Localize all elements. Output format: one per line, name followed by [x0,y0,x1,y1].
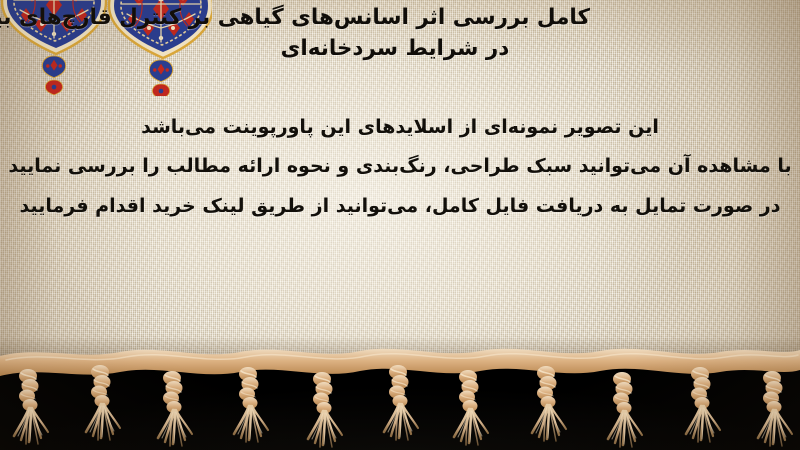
title-line-1: کامل بررسی اثر اسانس‌های گیاهی بر کنترل … [0,3,590,34]
title-line-2: در شرایط سردخانه‌ای [0,34,790,65]
bottom-black-band [0,362,800,450]
body-line-2: با مشاهده آن می‌توانید سبک طراحی، رنگ‌بن… [0,147,800,186]
body-line-3: در صورت تمایل به دریافت فایل کامل، می‌تو… [0,187,800,226]
slide-body: این تصویر نمونه‌ای از اسلایدهای این پاور… [0,108,800,226]
slide-title: کامل بررسی اثر اسانس‌های گیاهی بر کنترل … [0,3,800,64]
band-top-edge-shadow [0,356,800,370]
slide-canvas: کامل بررسی اثر اسانس‌های گیاهی بر کنترل … [0,0,800,450]
body-line-1: این تصویر نمونه‌ای از اسلایدهای این پاور… [0,108,800,147]
